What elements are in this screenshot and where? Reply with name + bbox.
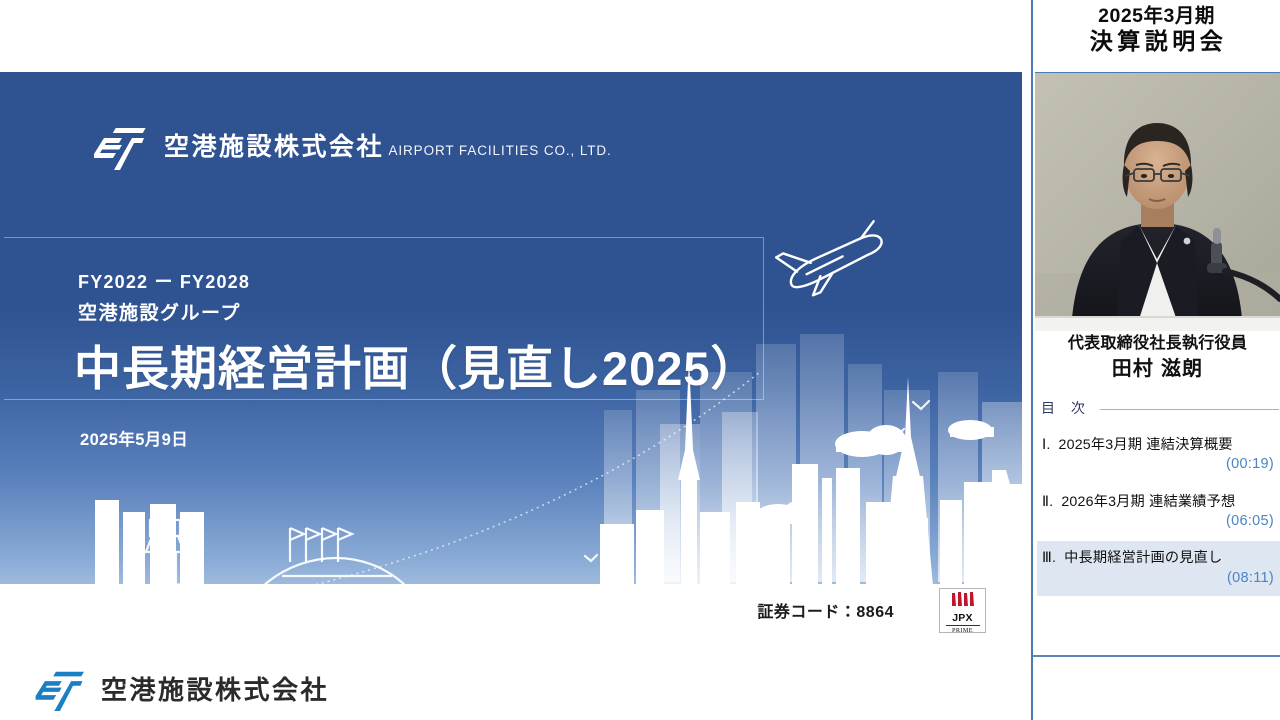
presentation-slide[interactable]: 空港施設株式会社 AIRPORT FACILITIES CO., LTD. FY… xyxy=(0,72,1022,655)
toc-list: Ⅰ.2025年3月期 連結決算概要 (00:19) Ⅱ.2026年3月期 連結業… xyxy=(1037,428,1280,598)
slide-logo-jp: 空港施設株式会社 xyxy=(164,133,384,161)
toc-item-1[interactable]: Ⅰ.2025年3月期 連結決算概要 (00:19) xyxy=(1037,428,1280,483)
presenter-video[interactable] xyxy=(1035,72,1280,331)
slide-company-logo: 空港施設株式会社 AIRPORT FACILITIES CO., LTD. xyxy=(88,124,612,170)
sidebar: 2025年3月期 決算説明会 xyxy=(1031,0,1280,720)
jpx-name: JPX xyxy=(952,613,972,624)
meeting-header: 2025年3月期 決算説明会 xyxy=(1033,0,1280,60)
airport-facilities-footer-logo-icon xyxy=(30,668,88,708)
group-name: 空港施設グループ xyxy=(78,298,241,325)
app-root: 空港施設株式会社 AIRPORT FACILITIES CO., LTD. FY… xyxy=(0,0,1280,720)
slide-main-title: 中長期経営計画（見直し2025） xyxy=(74,330,759,399)
toc-item-3-timestamp[interactable]: (08:11) xyxy=(1042,569,1276,587)
toc-item-3-label: 中長期経営計画の見直し xyxy=(1064,550,1222,566)
toc-label: 目 次 xyxy=(1041,398,1091,418)
slide-logo-text: 空港施設株式会社 AIRPORT FACILITIES CO., LTD. xyxy=(164,133,612,162)
slide-logo-en: AIRPORT FACILITIES CO., LTD. xyxy=(388,143,611,158)
toc-item-1-timestamp[interactable]: (00:19) xyxy=(1042,455,1276,473)
toc-item-3-numeral: Ⅲ. xyxy=(1042,550,1056,566)
toc-item-1-title: Ⅰ.2025年3月期 連結決算概要 xyxy=(1042,436,1276,454)
toc-item-3-title: Ⅲ.中長期経営計画の見直し xyxy=(1042,549,1276,567)
airport-facilities-logo-icon xyxy=(88,124,150,170)
meeting-title: 決算説明会 xyxy=(1033,27,1280,56)
jpx-prime-badge: JPX PRIME xyxy=(939,588,986,633)
toc-header: 目 次 xyxy=(1041,398,1279,418)
slide-date: 2025年5月9日 xyxy=(80,426,188,450)
slide-stage: 空港施設株式会社 AIRPORT FACILITIES CO., LTD. FY… xyxy=(0,0,1031,720)
securities-code: 証券コード：8864 xyxy=(757,598,894,622)
speaker-name: 田村 滋朗 xyxy=(1033,356,1280,383)
toc-item-3[interactable]: Ⅲ.中長期経営計画の見直し (08:11) xyxy=(1037,541,1280,596)
jpx-market: PRIME xyxy=(946,625,980,634)
fiscal-year-range: FY2022 ー FY2028 xyxy=(78,268,250,294)
toc-item-2[interactable]: Ⅱ.2026年3月期 連結業績予想 (06:05) xyxy=(1037,485,1280,540)
toc-item-2-numeral: Ⅱ. xyxy=(1042,494,1053,510)
meeting-period: 2025年3月期 xyxy=(1033,5,1280,27)
toc-header-rule xyxy=(1100,409,1279,410)
toc-item-2-label: 2026年3月期 連結業績予想 xyxy=(1061,494,1235,510)
sidebar-bottom-rule xyxy=(1033,655,1280,657)
speaker-role: 代表取締役社長執行役員 xyxy=(1033,334,1280,355)
toc-item-1-label: 2025年3月期 連結決算概要 xyxy=(1059,437,1233,453)
footer-company-logo: 空港施設株式会社 xyxy=(30,668,329,708)
toc-item-2-timestamp[interactable]: (06:05) xyxy=(1042,512,1276,530)
jpx-bars-icon xyxy=(950,592,976,612)
footer-company-name: 空港施設株式会社 xyxy=(101,670,329,707)
toc-item-2-title: Ⅱ.2026年3月期 連結業績予想 xyxy=(1042,493,1276,511)
toc-item-1-numeral: Ⅰ. xyxy=(1042,437,1051,453)
speaker-info: 代表取締役社長執行役員 田村 滋朗 xyxy=(1033,334,1280,383)
